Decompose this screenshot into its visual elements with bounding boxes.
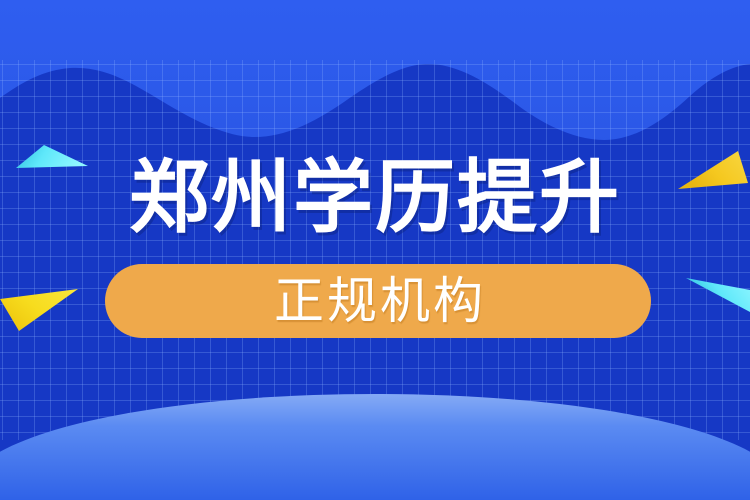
headline-text: 郑州学历提升 [129, 152, 621, 244]
promo-banner: 郑州学历提升 正规机构 [0, 0, 750, 500]
page-title: 郑州学历提升 [0, 152, 750, 244]
status-badge: 正规机构 [105, 264, 651, 338]
bottom-arc-decoration [0, 380, 750, 500]
status-badge-label: 正规机构 [270, 273, 486, 329]
